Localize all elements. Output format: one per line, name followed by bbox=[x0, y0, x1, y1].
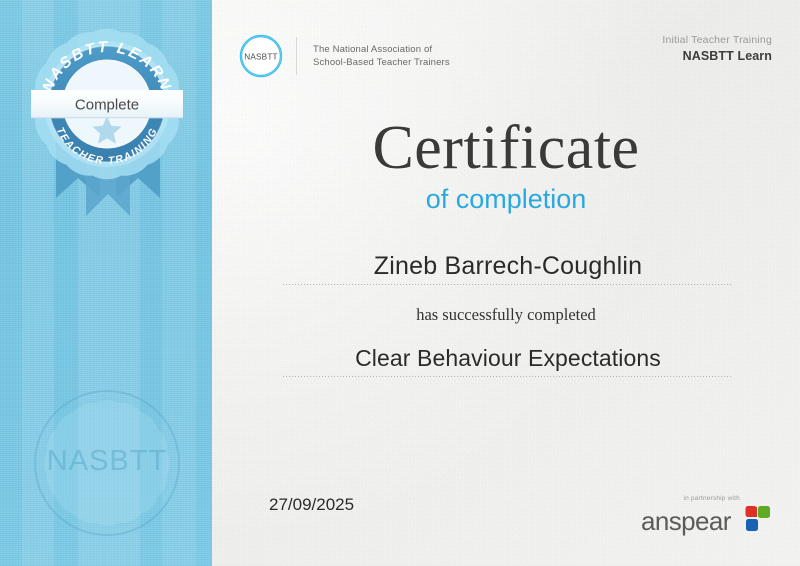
course-name: Clear Behaviour Expectations bbox=[283, 343, 733, 373]
anspear-wordmark: anspear bbox=[641, 503, 776, 539]
left-decorative-panel: NASBTT LEARN TEACHER TRAINING Complete bbox=[0, 0, 212, 566]
certificate-body: Certificate of completion Zineb Barrech-… bbox=[212, 0, 800, 566]
completion-badge: NASBTT LEARN TEACHER TRAINING Complete bbox=[21, 18, 193, 190]
anspear-partner-logo: in partnership with anspear bbox=[641, 494, 776, 542]
page-subtitle: of completion bbox=[212, 182, 800, 216]
badge-banner-label: Complete bbox=[75, 97, 139, 114]
anspear-name: anspear bbox=[641, 506, 732, 536]
completion-phrase: has successfully completed bbox=[212, 304, 800, 326]
recipient-name-field: Zineb Barrech-Coughlin bbox=[283, 250, 733, 282]
watermark-label: NASBTT bbox=[47, 445, 167, 477]
nasbtt-watermark: NASBTT bbox=[24, 380, 190, 546]
page-title: Certificate bbox=[212, 112, 800, 184]
partner-prefix: in partnership with bbox=[683, 494, 740, 503]
certificate-page: NASBTT LEARN TEACHER TRAINING Complete bbox=[0, 0, 800, 566]
course-name-rule bbox=[283, 376, 733, 377]
issue-date: 27/09/2025 bbox=[269, 494, 354, 516]
anspear-pinwheel-icon bbox=[746, 506, 771, 531]
recipient-name-rule bbox=[283, 284, 733, 285]
recipient-name: Zineb Barrech-Coughlin bbox=[283, 250, 733, 282]
course-name-field: Clear Behaviour Expectations bbox=[283, 343, 733, 373]
